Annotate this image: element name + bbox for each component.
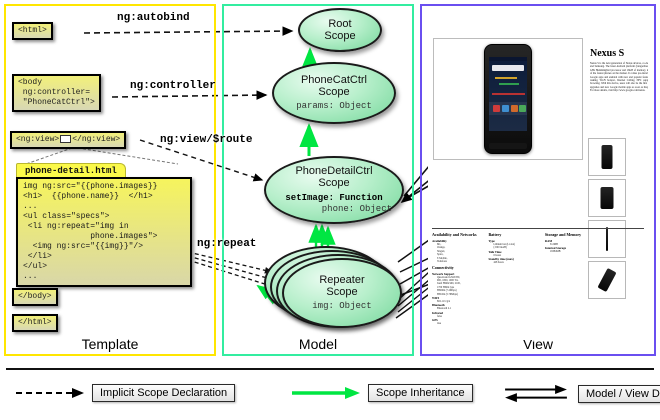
tag-body-close: </body> — [12, 288, 58, 306]
spec-heading-battery: Battery — [488, 232, 538, 237]
tag-html-open: <html> — [12, 22, 53, 40]
phone-app-icon-3 — [511, 105, 518, 112]
scope-cat-property: params: Object — [296, 101, 372, 112]
legend-item-implicit-scope-declaration: Implicit Scope Declaration — [14, 384, 235, 402]
phone-illustration — [484, 44, 532, 154]
view-page-description: Nexus S is the next generation of Nexus … — [590, 62, 648, 93]
legend-label-inheritance: Scope Inheritance — [368, 384, 473, 402]
scope-cat-line1: PhoneCatCtrl — [301, 74, 367, 86]
diagram-canvas: Template Model View <html> <body ng:cont… — [0, 0, 660, 420]
view-thumbnail-2[interactable] — [588, 179, 626, 217]
view-thumbnail-1[interactable] — [588, 138, 626, 176]
phone-screen-line-1 — [495, 77, 517, 79]
scope-detail-line2: Scope — [318, 177, 349, 189]
note-filename: phone-detail.html — [16, 163, 126, 177]
spec-column-availability: Availability and Networks Availability M… — [432, 232, 482, 263]
thumb-phone-back-icon — [601, 187, 614, 209]
column-label-model: Model — [224, 336, 412, 352]
tag-ngview-open: <ng:view> — [16, 135, 59, 144]
legend-item-data-binding: Model / View Data-binding — [500, 384, 660, 404]
spec-heading-availability: Availability and Networks — [432, 232, 482, 237]
scope-repeater: Repeater Scope img: Object — [282, 258, 402, 328]
legend-icon-double-arrow — [500, 384, 572, 404]
spec-heading-connectivity: Connectivity — [432, 265, 482, 270]
scope-detail-property-phone: phone: Object — [322, 204, 402, 215]
view-specs-table: Availability and Networks Availability M… — [432, 232, 646, 326]
template-callout-note: phone-detail.html img ng:src="{{phone.im… — [16, 160, 192, 287]
scope-rep-line2: Scope — [326, 286, 357, 298]
edge-label-ng-controller: ng:controller — [130, 80, 216, 92]
legend-icon-green-arrow — [290, 385, 362, 401]
phone-statusbar — [489, 57, 527, 61]
scope-rep-property: img: Object — [312, 301, 371, 312]
phone-hero-image-frame — [433, 38, 583, 160]
tag-body-open: <body ng:controller= "PhoneCatCtrl"> — [12, 74, 101, 112]
spec-value-internal-storage-0: 16384MB — [545, 250, 595, 253]
edge-label-ng-repeat: ng:repeat — [197, 238, 256, 250]
ngview-placeholder-icon — [60, 135, 71, 143]
spec-value-availability-5: Vodafone — [432, 260, 482, 263]
scope-phonedetailctrl: PhoneDetailCtrl Scope setImage: Function… — [264, 156, 404, 224]
scope-detail-line1: PhoneDetailCtrl — [295, 165, 372, 177]
scope-root: Root Scope — [298, 8, 382, 52]
view-rendered-page: Nexus S Nexus S is the next generation o… — [428, 10, 648, 340]
phone-app-icon-1 — [493, 105, 500, 112]
view-page-title: Nexus S — [590, 48, 624, 59]
tag-ngview: <ng:view></ng:view> — [10, 131, 126, 149]
spec-value-gps-0: true — [432, 322, 482, 325]
legend-icon-dashed-arrow — [14, 385, 86, 401]
phone-app-icon-2 — [502, 105, 509, 112]
legend: Implicit Scope Declaration Scope Inherit… — [0, 368, 660, 420]
specs-divider — [432, 228, 644, 229]
note-code: img ng:src="{{phone.images}} <h1> {{phon… — [16, 177, 192, 287]
scope-cat-line2: Scope — [318, 86, 349, 98]
phone-app-icon-4 — [519, 105, 526, 112]
phone-screen — [489, 57, 527, 131]
phone-screen-line-2 — [499, 83, 519, 85]
spec-column-connectivity: Connectivity Network Support Quad-band G… — [432, 265, 482, 326]
legend-divider — [6, 368, 654, 370]
phone-search-widget-icon — [492, 65, 524, 71]
spec-heading-storage: Storage and Memory — [545, 232, 595, 237]
tag-html-close: </html> — [12, 314, 58, 332]
legend-label-implicit: Implicit Scope Declaration — [92, 384, 235, 402]
column-label-template: Template — [6, 336, 214, 352]
legend-item-scope-inheritance: Scope Inheritance — [290, 384, 473, 402]
phone-soft-keys — [489, 143, 527, 149]
thumb-phone-front-icon — [602, 145, 613, 169]
scope-detail-property-setimage: setImage: Function — [285, 193, 382, 204]
scope-rep-line1: Repeater — [319, 274, 364, 286]
scope-phonecatctrl: PhoneCatCtrl Scope params: Object — [272, 62, 396, 124]
edge-label-ng-autobind: ng:autobind — [117, 12, 190, 24]
spec-column-battery: Battery Type Lithium Ion (Li-Ion) (1500 … — [488, 232, 538, 265]
edge-label-ng-view-route: ng:view/$route — [160, 134, 252, 146]
tag-ngview-close: </ng:view> — [72, 135, 120, 144]
spec-value-battery-standby-0: 428 hours — [488, 261, 538, 264]
phone-screen-line-3 — [492, 93, 525, 95]
scope-root-line2: Scope — [324, 30, 355, 42]
scope-root-line1: Root — [328, 18, 351, 30]
legend-label-databinding: Model / View Data-binding — [578, 385, 660, 403]
spec-column-storage: Storage and Memory RAM 512MB Internal St… — [545, 232, 595, 254]
